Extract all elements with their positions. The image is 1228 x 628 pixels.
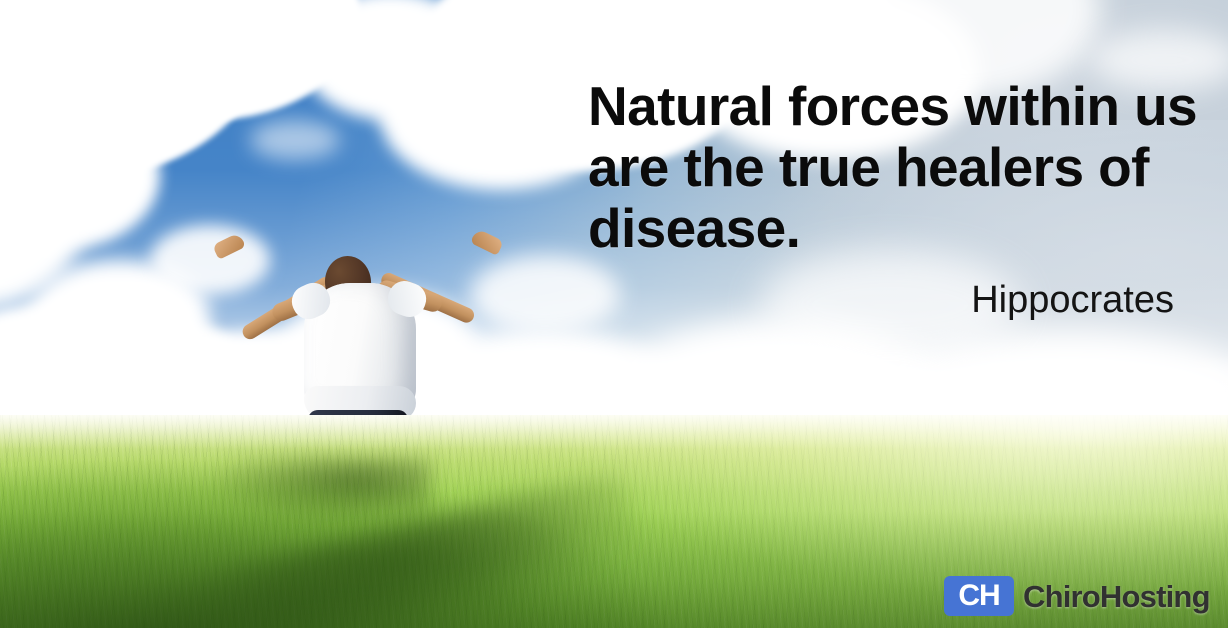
quote-attribution: Hippocrates <box>588 278 1204 322</box>
logo-wordmark: ChiroHosting <box>1023 581 1210 612</box>
quote-banner-image: Natural forces within us are the true he… <box>0 0 1228 628</box>
field-horizon-haze <box>0 415 1228 449</box>
cloud-wisp-left <box>250 120 340 160</box>
left-hand <box>212 232 246 260</box>
quote-text: Natural forces within us are the true he… <box>588 76 1204 259</box>
chirohosting-logo[interactable]: CH ChiroHosting <box>944 576 1210 616</box>
right-hand <box>470 228 504 256</box>
logo-badge-ch: CH <box>944 576 1014 616</box>
